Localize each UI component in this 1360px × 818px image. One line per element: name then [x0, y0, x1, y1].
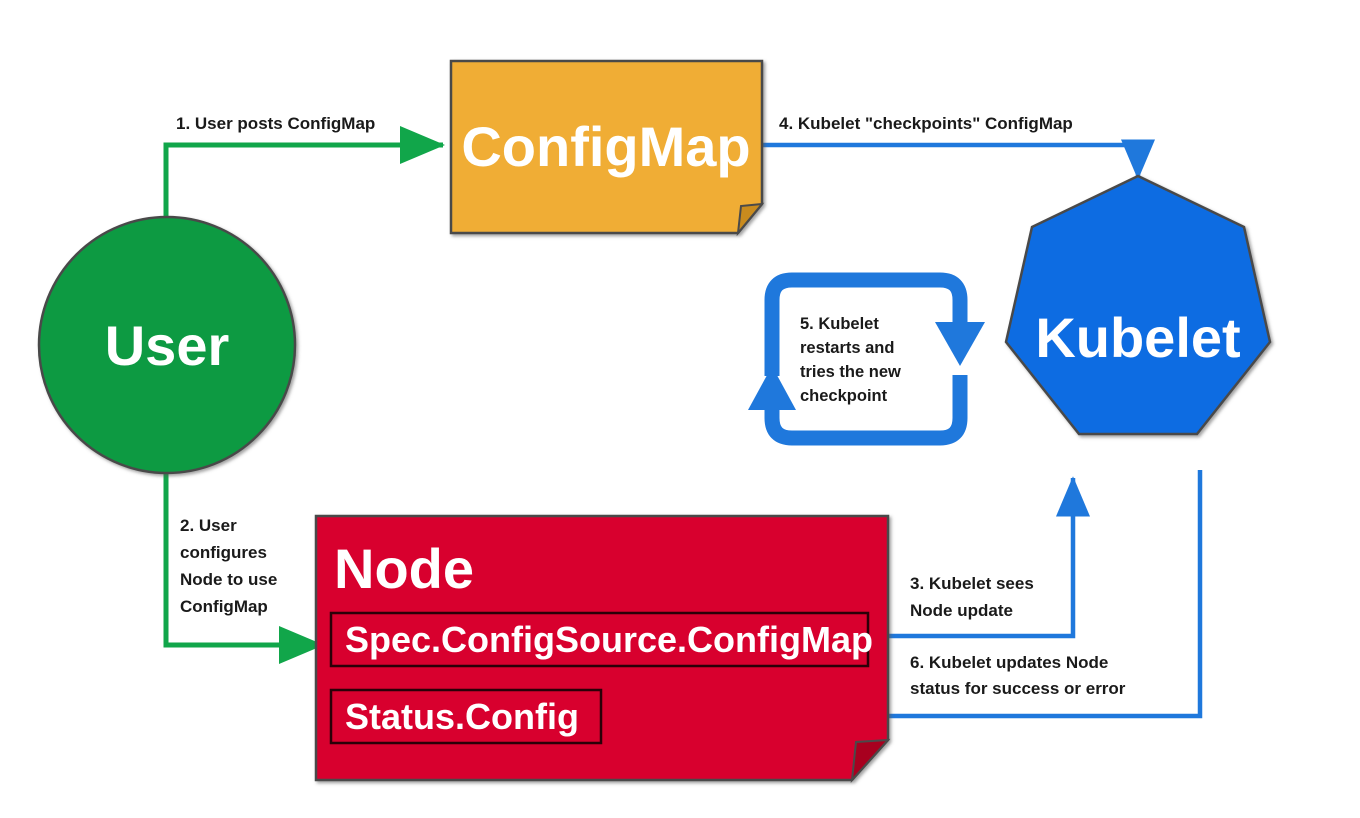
- node-field-spec-configsource-configmap[interactable]: Spec.ConfigSource.ConfigMap: [331, 613, 873, 666]
- node-field-spec-label: Spec.ConfigSource.ConfigMap: [345, 619, 873, 660]
- connector-step-4: [763, 145, 1138, 178]
- node-user-label: User: [105, 314, 230, 377]
- label-step-5-line-0: 5. Kubelet: [800, 315, 879, 333]
- node-user[interactable]: User: [39, 217, 295, 473]
- node-field-status-config[interactable]: Status.Config: [331, 690, 601, 743]
- label-step-5-line-1: restarts and: [800, 339, 894, 357]
- label-step-2-line-3: ConfigMap: [180, 597, 268, 616]
- connector-step-5-loop: [748, 280, 985, 438]
- node-configmap[interactable]: ConfigMap: [451, 61, 762, 233]
- label-step-1-line-0: 1. User posts ConfigMap: [176, 114, 375, 133]
- diagram-canvas: User ConfigMap Kubelet Node Spec.ConfigS…: [0, 0, 1360, 818]
- label-step-6-line-0: 6. Kubelet updates Node: [910, 653, 1108, 672]
- label-step-3: 3. Kubelet sees Node update: [910, 574, 1034, 620]
- node-node[interactable]: Node Spec.ConfigSource.ConfigMap Status.…: [316, 516, 888, 780]
- connector-step-1: [166, 145, 443, 148]
- label-step-4-line-0: 4. Kubelet "checkpoints" ConfigMap: [779, 114, 1073, 133]
- label-step-2-line-2: Node to use: [180, 570, 277, 589]
- label-step-2: 2. User configures Node to use ConfigMap: [180, 516, 277, 616]
- label-step-3-line-0: 3. Kubelet sees: [910, 574, 1034, 593]
- node-configmap-label: ConfigMap: [461, 115, 750, 178]
- node-kubelet[interactable]: Kubelet: [1006, 176, 1270, 434]
- label-step-6-line-1: status for success or error: [910, 679, 1126, 698]
- node-field-status-label: Status.Config: [345, 696, 579, 737]
- label-step-1: 1. User posts ConfigMap: [176, 114, 375, 133]
- label-step-2-line-0: 2. User: [180, 516, 237, 535]
- kubelet-config-flow-diagram: User ConfigMap Kubelet Node Spec.ConfigS…: [0, 0, 1360, 818]
- label-step-2-line-1: configures: [180, 543, 267, 562]
- label-step-4: 4. Kubelet "checkpoints" ConfigMap: [779, 114, 1073, 133]
- node-kubelet-label: Kubelet: [1035, 306, 1240, 369]
- label-step-5: 5. Kubelet restarts and tries the new ch…: [800, 315, 901, 405]
- label-step-6: 6. Kubelet updates Node status for succe…: [910, 653, 1126, 698]
- label-step-5-line-3: checkpoint: [800, 387, 888, 405]
- label-step-5-line-2: tries the new: [800, 363, 901, 381]
- node-node-label: Node: [334, 537, 474, 600]
- label-step-3-line-1: Node update: [910, 601, 1013, 620]
